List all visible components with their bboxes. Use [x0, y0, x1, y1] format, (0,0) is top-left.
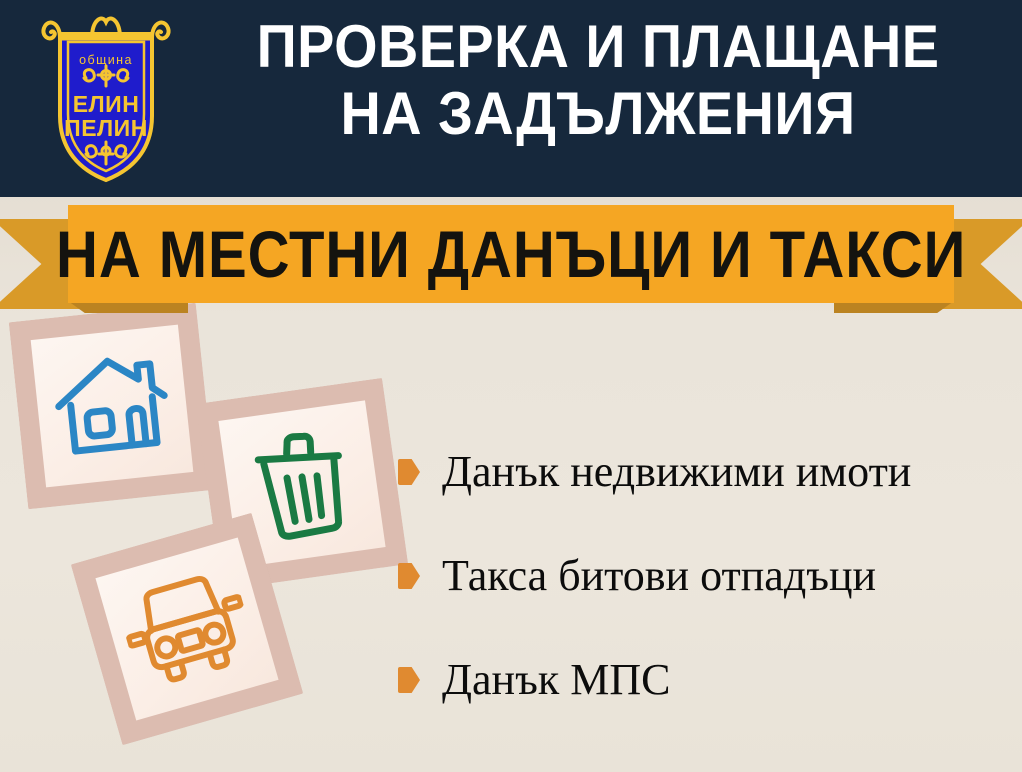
arrow-bullet-icon — [398, 459, 420, 485]
list-item[interactable]: Данък МПС — [398, 628, 1008, 732]
municipality-emblem: община ЕЛИН ПЕЛИН — [36, 8, 176, 188]
poster-root: община ЕЛИН ПЕЛИН — [0, 0, 1022, 772]
stamp-card-property — [9, 303, 216, 510]
list-item-label: Такса битови отпадъци — [442, 554, 876, 598]
list-item-label: Данък МПС — [442, 658, 670, 702]
emblem-name-line-2: ПЕЛИН — [64, 115, 148, 141]
header-title-block: ПРОВЕРКА И ПЛАЩАНЕ НА ЗАДЪЛЖЕНИЯ — [190, 16, 1006, 144]
page-title-line-2: НА ЗАДЪЛЖЕНИЯ — [219, 83, 978, 144]
list-item[interactable]: Такса битови отпадъци — [398, 524, 1008, 628]
ribbon-label: НА МЕСТНИ ДАНЪЦИ И ТАКСИ — [56, 221, 966, 287]
tax-type-list: Данък недвижими имоти Такса битови отпад… — [398, 420, 1008, 732]
arrow-bullet-icon — [398, 563, 420, 589]
header-bar: община ЕЛИН ПЕЛИН — [0, 0, 1022, 197]
house-icon — [48, 345, 177, 467]
list-item[interactable]: Данък недвижими имоти — [398, 420, 1008, 524]
list-item-label: Данък недвижими имоти — [442, 450, 911, 494]
ribbon-banner: НА МЕСТНИ ДАНЪЦИ И ТАКСИ — [68, 205, 954, 303]
arrow-bullet-icon — [398, 667, 420, 693]
emblem-name-line-1: ЕЛИН — [73, 91, 140, 117]
subtitle-ribbon: НА МЕСТНИ ДАНЪЦИ И ТАКСИ — [0, 199, 1022, 311]
page-title-line-1: ПРОВЕРКА И ПЛАЩАНЕ — [219, 16, 978, 77]
trash-can-icon — [241, 421, 364, 547]
stamp-inner-property — [31, 325, 194, 488]
car-front-icon — [114, 562, 260, 696]
